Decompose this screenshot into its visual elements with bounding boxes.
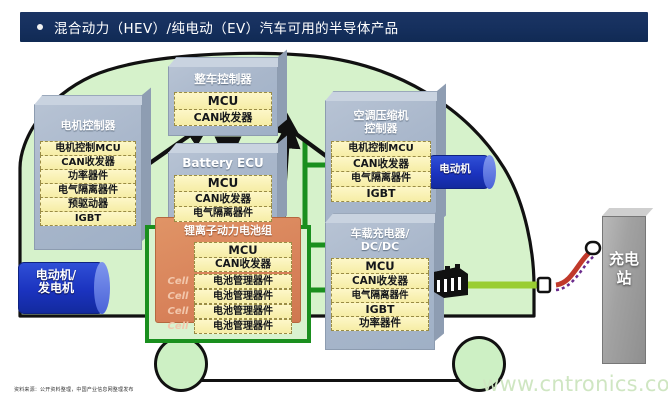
battery-pack-enclosure: 锂离子动力电池组 MCU CAN收发器 Cell 电池管理器件 Cell 电池管… (145, 225, 311, 343)
chip-item: 电池管理器件 (194, 274, 292, 289)
chip-item: 预驱动器 (40, 197, 136, 211)
chip-item: MCU (194, 242, 292, 257)
module-title-line2: 控制器 (325, 123, 437, 136)
chip-item: 功率器件 (331, 316, 429, 331)
module-vehicle-controller[interactable]: 整车控制器 MCU CAN收发器 (168, 66, 278, 136)
battery-icon (428, 262, 470, 300)
module-onboard-charger[interactable]: 车载充电器/ DC/DC MCU CAN收发器 电气隔离器件 IGBT 功率器件 (325, 222, 435, 350)
module-title: 车载充电器/ DC/DC (325, 222, 435, 253)
module-side-face (278, 49, 287, 127)
module-title-line2: DC/DC (325, 241, 435, 254)
chip-item: 电池管理器件 (194, 319, 292, 334)
motor-label: 电动机 (428, 155, 490, 176)
charging-station[interactable]: 充电站 (602, 216, 646, 364)
slide-canvas: 混合动力（HEV）/纯电动（EV）汽车可用的半导体产品 (0, 0, 668, 406)
chip-item: 电气隔离器件 (331, 171, 431, 186)
module-title: Battery ECU (168, 152, 278, 171)
module-title-line1: 车载充电器/ (325, 228, 435, 241)
cell-rows: Cell 电池管理器件 Cell 电池管理器件 Cell 电池管理器件 Cell… (162, 274, 292, 334)
chip-item: IGBT (331, 302, 429, 316)
chip-list: MCU CAN收发器 (174, 92, 272, 126)
chip-list: 电机控制MCU CAN收发器 电气隔离器件 IGBT (331, 141, 431, 202)
chip-item: IGBT (40, 211, 136, 226)
chip-list: MCU CAN收发器 电气隔离器件 (174, 175, 272, 222)
module-title-line1: 空调压缩机 (325, 110, 437, 123)
chip-item: MCU (174, 92, 272, 109)
chip-item: CAN收发器 (174, 191, 272, 206)
motor-generator[interactable]: 电动机/ 发电机 (18, 262, 104, 314)
motor-label-line2: 发电机 (18, 282, 94, 295)
module-battery-ecu[interactable]: Battery ECU MCU CAN收发器 电气隔离器件 (168, 152, 278, 232)
cell-label: Cell (162, 304, 194, 319)
chip-item: MCU (331, 258, 429, 273)
cell-row: Cell 电池管理器件 (162, 289, 292, 304)
chip-item: IGBT (331, 186, 431, 202)
module-side-face (278, 135, 287, 223)
module-side-face (142, 87, 151, 241)
plug-cable (556, 252, 594, 290)
chip-item: 功率器件 (40, 169, 136, 183)
cell-row: Cell 电池管理器件 (162, 319, 292, 334)
module-title: 电机控制器 (34, 104, 142, 133)
chip-item: 电机控制MCU (331, 141, 431, 156)
cell-row: Cell 电池管理器件 (162, 304, 292, 319)
module-side-face (437, 83, 446, 223)
module-motor-controller[interactable]: 电机控制器 电机控制MCU CAN收发器 功率器件 电气隔离器件 预驱动器 IG… (34, 104, 142, 250)
chip-item: CAN收发器 (194, 257, 292, 272)
module-title: 整车控制器 (168, 66, 278, 86)
chip-item: CAN收发器 (331, 273, 429, 288)
cell-label: Cell (162, 289, 194, 304)
battery-chip-list: MCU CAN收发器 (194, 242, 292, 272)
chip-list: MCU CAN收发器 电气隔离器件 IGBT 功率器件 (331, 258, 429, 331)
cell-label: Cell (162, 319, 194, 334)
chip-item: 电气隔离器件 (331, 288, 429, 302)
station-label: 充电站 (602, 216, 646, 288)
traction-motor[interactable]: 电动机 (428, 155, 490, 189)
chip-item: 电气隔离器件 (40, 183, 136, 197)
cell-label: Cell (162, 274, 194, 289)
cell-row: Cell 电池管理器件 (162, 274, 292, 289)
chip-item: 电气隔离器件 (174, 206, 272, 222)
chip-item: CAN收发器 (40, 155, 136, 169)
chip-item: 电机控制MCU (40, 141, 136, 155)
module-lithium-battery-pack[interactable]: 锂离子动力电池组 MCU CAN收发器 Cell 电池管理器件 Cell 电池管… (155, 217, 301, 323)
site-watermark: www.cntronics.com (482, 372, 668, 396)
chip-item: 电池管理器件 (194, 304, 292, 319)
module-title: 空调压缩机 控制器 (325, 100, 437, 135)
chip-item: CAN收发器 (174, 109, 272, 126)
chip-item: 电池管理器件 (194, 289, 292, 304)
chip-item: MCU (174, 175, 272, 191)
motor-label: 电动机/ 发电机 (18, 262, 104, 295)
chip-list: 电机控制MCU CAN收发器 功率器件 电气隔离器件 预驱动器 IGBT (40, 141, 136, 226)
chip-item: CAN收发器 (331, 156, 431, 171)
source-note: 资料来源：公开资料整理，中国产业信息网整理发布 (14, 386, 134, 393)
station-top-face (602, 208, 653, 216)
